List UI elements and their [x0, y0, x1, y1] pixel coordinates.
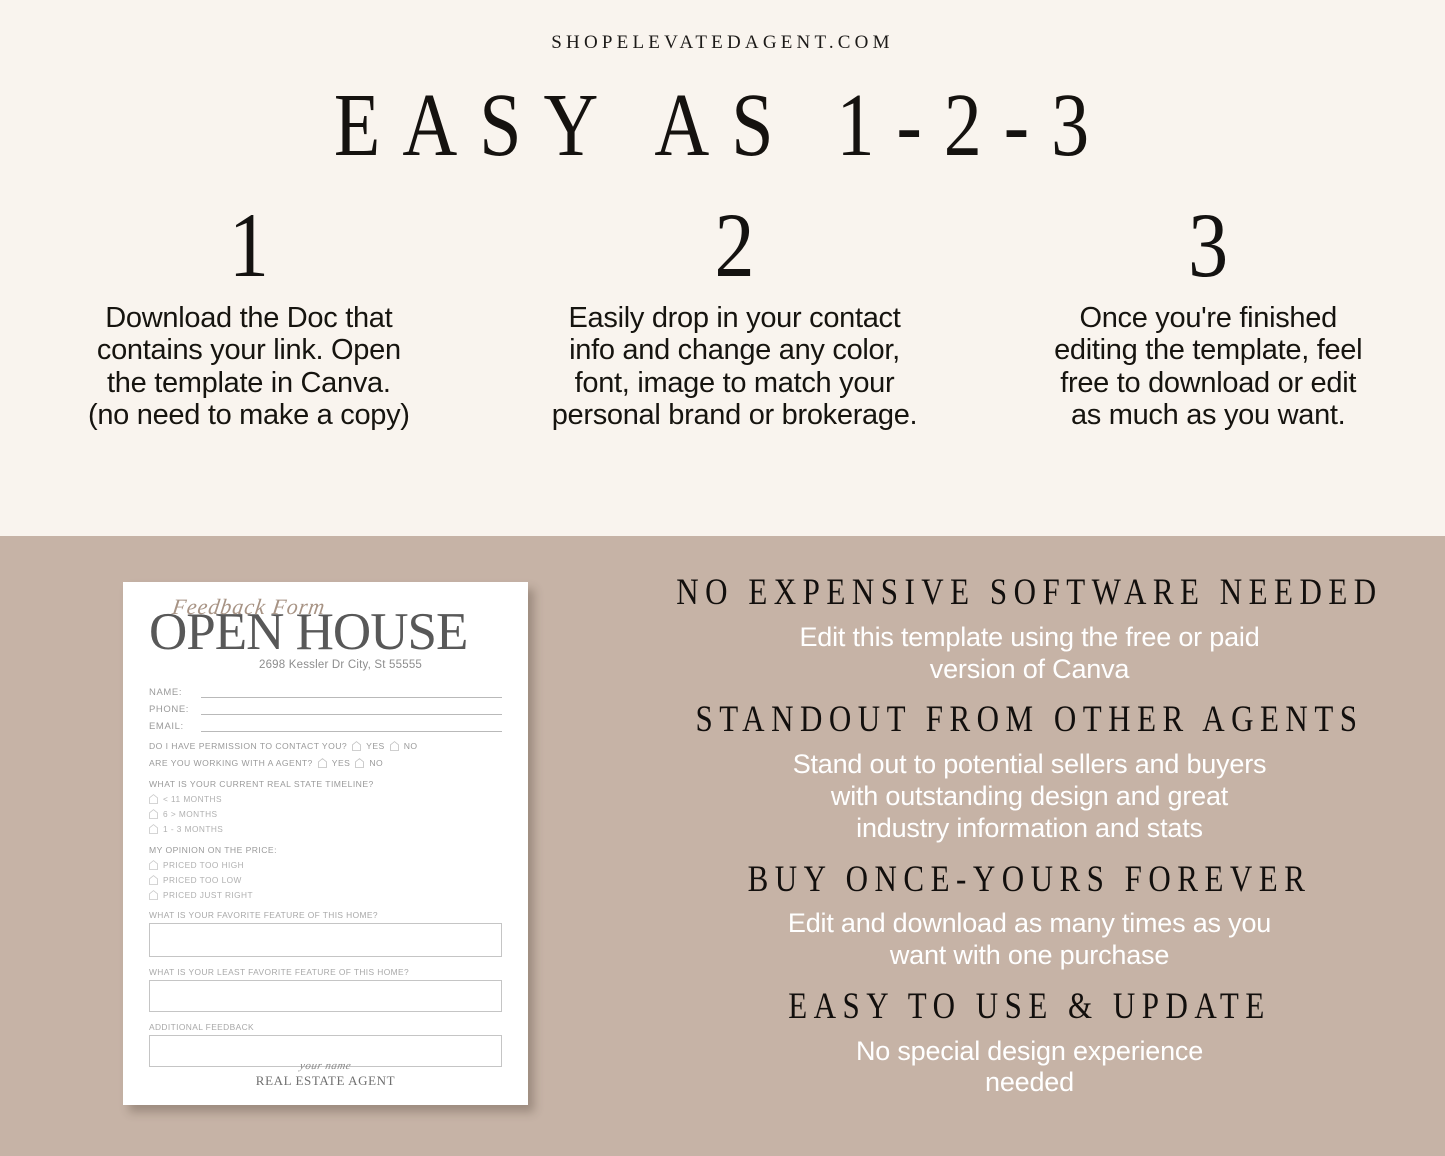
benefit-heading-1: NO EXPENSIVE SOFTWARE NEEDED [614, 571, 1445, 613]
step-item-3: 3 Once you're finished editing the templ… [971, 200, 1445, 432]
form-timeline-option[interactable]: < 11 MONTHS [149, 794, 502, 804]
form-field-label-email: EMAIL: [149, 721, 201, 732]
form-field-email: EMAIL: [149, 721, 502, 732]
form-field-line-phone[interactable] [201, 704, 502, 715]
step-number-1: 1 [30, 200, 468, 292]
benefit-body-2: Stand out to potential sellers and buyer… [614, 749, 1445, 845]
form-least-favorite-textarea[interactable] [149, 980, 502, 1012]
step-text-3: Once you're finished editing the templat… [989, 302, 1427, 432]
step-item-2: 2 Easily drop in your contact info and c… [498, 200, 972, 432]
form-field-line-name[interactable] [201, 687, 502, 698]
form-address: 2698 Kessler Dr City, St 55555 [179, 659, 502, 671]
form-footer-role: REAL ESTATE AGENT [123, 1073, 528, 1089]
form-price-question: MY OPINION ON THE PRICE: [149, 845, 502, 855]
house-checkbox-icon[interactable] [149, 875, 158, 885]
benefit-item-3: BUY ONCE-YOURS FOREVER Edit and download… [614, 861, 1445, 972]
form-additional-label: ADDITIONAL FEEDBACK [149, 1022, 502, 1032]
form-price-option-label: PRICED TOO LOW [163, 875, 242, 885]
step-text-1: Download the Doc that contains your link… [30, 302, 468, 432]
form-field-label-phone: PHONE: [149, 704, 201, 715]
form-field-name: NAME: [149, 687, 502, 698]
form-agent-option-yes: YES [332, 758, 351, 768]
form-timeline-option-label: 1 - 3 MONTHS [163, 824, 223, 834]
form-price-option-label: PRICED JUST RIGHT [163, 890, 253, 900]
form-permission-option-no: NO [404, 741, 418, 751]
benefits-list: NO EXPENSIVE SOFTWARE NEEDED Edit this t… [614, 574, 1445, 1115]
form-agent-option-no: NO [369, 758, 383, 768]
site-url: SHOPELEVATEDAGENT.COM [0, 32, 1445, 54]
form-favorite-label: WHAT IS YOUR FAVORITE FEATURE OF THIS HO… [149, 910, 502, 920]
step-number-2: 2 [516, 200, 954, 292]
steps-row: 1 Download the Doc that contains your li… [0, 200, 1445, 432]
top-section: SHOPELEVATEDAGENT.COM EASY AS 1-2-3 1 Do… [0, 0, 1445, 536]
form-footer-name: your name [122, 1061, 529, 1072]
house-checkbox-icon[interactable] [352, 741, 361, 751]
form-timeline-option[interactable]: 1 - 3 MONTHS [149, 824, 502, 834]
house-checkbox-icon[interactable] [149, 824, 158, 834]
form-timeline-question: WHAT IS YOUR CURRENT REAL STATE TIMELINE… [149, 779, 502, 789]
step-item-1: 1 Download the Doc that contains your li… [0, 200, 498, 432]
form-permission-option-yes: YES [366, 741, 385, 751]
benefit-heading-4: EASY TO USE & UPDATE [614, 985, 1445, 1027]
form-field-line-email[interactable] [201, 721, 502, 732]
house-checkbox-icon[interactable] [149, 809, 158, 819]
house-checkbox-icon[interactable] [149, 794, 158, 804]
form-agent-question-row: ARE YOU WORKING WITH A AGENT? YES NO [149, 758, 502, 768]
house-checkbox-icon[interactable] [390, 741, 399, 751]
form-price-option[interactable]: PRICED JUST RIGHT [149, 890, 502, 900]
house-checkbox-icon[interactable] [149, 890, 158, 900]
benefit-heading-2: STANDOUT FROM OTHER AGENTS [614, 698, 1445, 740]
form-price-option[interactable]: PRICED TOO LOW [149, 875, 502, 885]
benefit-item-4: EASY TO USE & UPDATE No special design e… [614, 988, 1445, 1099]
benefit-body-1: Edit this template using the free or pai… [614, 622, 1445, 686]
house-checkbox-icon[interactable] [149, 860, 158, 870]
benefit-item-1: NO EXPENSIVE SOFTWARE NEEDED Edit this t… [614, 574, 1445, 685]
form-price-option-label: PRICED TOO HIGH [163, 860, 244, 870]
open-house-form-preview: Feedback Form OPEN HOUSE 2698 Kessler Dr… [123, 582, 528, 1105]
step-number-3: 3 [989, 200, 1427, 292]
benefit-heading-3: BUY ONCE-YOURS FOREVER [614, 857, 1445, 899]
form-permission-question: DO I HAVE PERMISSION TO CONTACT YOU? [149, 741, 347, 751]
form-permission-question-row: DO I HAVE PERMISSION TO CONTACT YOU? YES… [149, 741, 502, 751]
form-contact-fields: NAME: PHONE: EMAIL: [149, 687, 502, 732]
form-timeline-option-label: < 11 MONTHS [163, 794, 222, 804]
step-text-2: Easily drop in your contact info and cha… [516, 302, 954, 432]
form-least-favorite-label: WHAT IS YOUR LEAST FAVORITE FEATURE OF T… [149, 967, 502, 977]
benefit-body-4: No special design experience needed [614, 1036, 1445, 1100]
form-field-phone: PHONE: [149, 704, 502, 715]
form-footer: your name REAL ESTATE AGENT [123, 1061, 528, 1089]
form-favorite-textarea[interactable] [149, 923, 502, 957]
bottom-section: Feedback Form OPEN HOUSE 2698 Kessler Dr… [0, 536, 1445, 1156]
form-price-option[interactable]: PRICED TOO HIGH [149, 860, 502, 870]
benefit-item-2: STANDOUT FROM OTHER AGENTS Stand out to … [614, 701, 1445, 844]
benefit-body-3: Edit and download as many times as you w… [614, 908, 1445, 972]
form-field-label-name: NAME: [149, 687, 201, 698]
page-title: EASY AS 1-2-3 [0, 77, 1445, 176]
form-script-title: Feedback Form [171, 596, 327, 618]
house-checkbox-icon[interactable] [355, 758, 364, 768]
form-timeline-option[interactable]: 6 > MONTHS [149, 809, 502, 819]
form-timeline-option-label: 6 > MONTHS [163, 809, 218, 819]
form-agent-question: ARE YOU WORKING WITH A AGENT? [149, 758, 313, 768]
house-checkbox-icon[interactable] [318, 758, 327, 768]
